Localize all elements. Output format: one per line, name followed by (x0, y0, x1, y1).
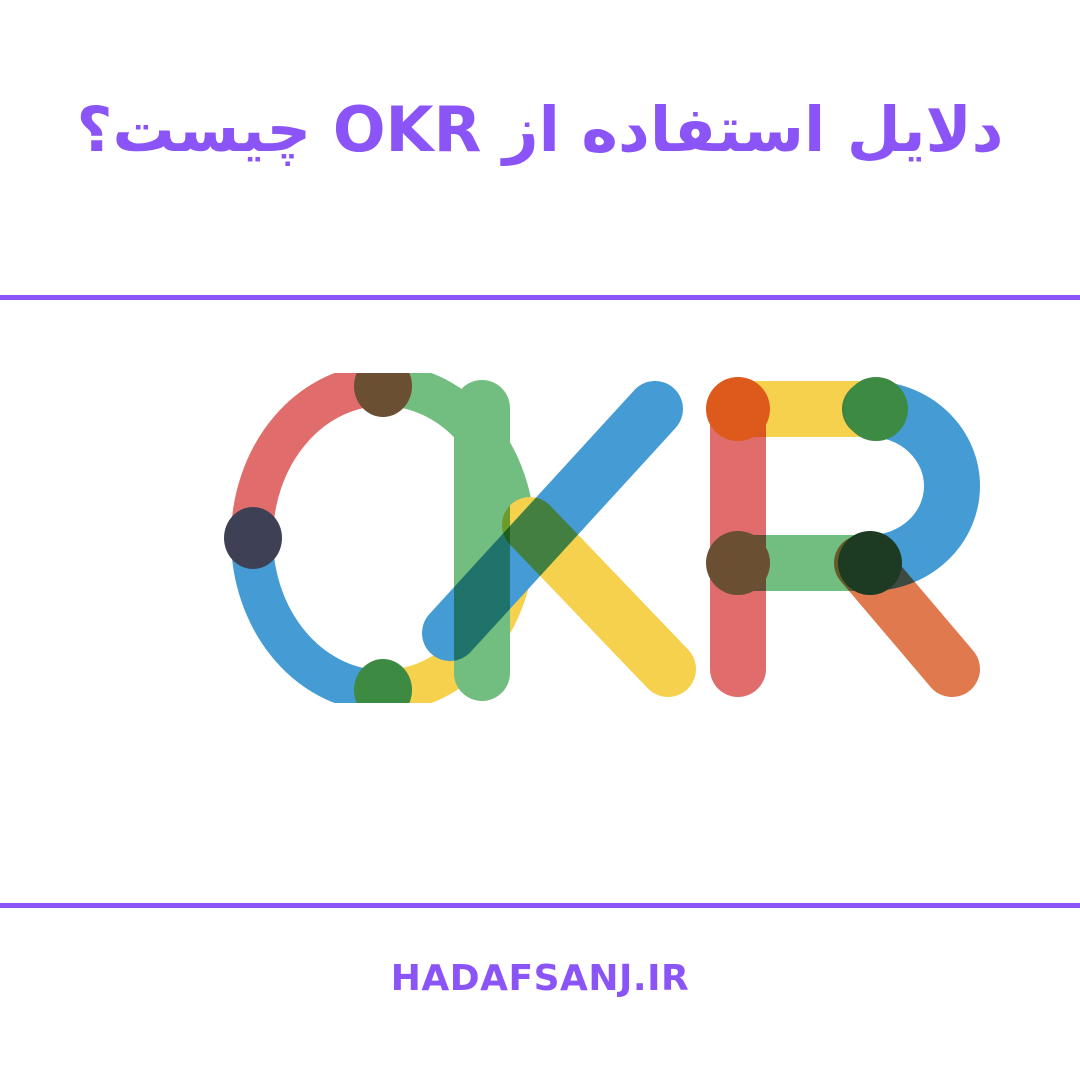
logo-zone (0, 300, 1080, 903)
o-bottom-node-icon (354, 659, 412, 703)
poster-canvas: دلایل استفاده از OKR چیست؟ (0, 0, 1080, 1080)
r-top-left-node-icon (706, 377, 770, 441)
o-left-node-icon (224, 507, 282, 569)
logo-letter-k (450, 408, 668, 673)
page-title: دلایل استفاده از OKR چیست؟ (77, 91, 1004, 169)
logo-letter-r (706, 377, 952, 669)
r-top-right-node-icon (844, 377, 908, 441)
title-zone: دلایل استفاده از OKR چیست؟ (0, 0, 1080, 295)
footer-brand-label: HADAFSANJ.IR (391, 958, 689, 999)
r-mid-left-node-icon (706, 531, 770, 595)
footer-zone: HADAFSANJ.IR (0, 908, 1080, 1080)
o-top-node-icon (354, 373, 412, 417)
r-mid-right-node-icon (838, 531, 902, 595)
okr-logo-icon (100, 373, 980, 703)
k-stroke-lower-yellow (530, 525, 668, 669)
